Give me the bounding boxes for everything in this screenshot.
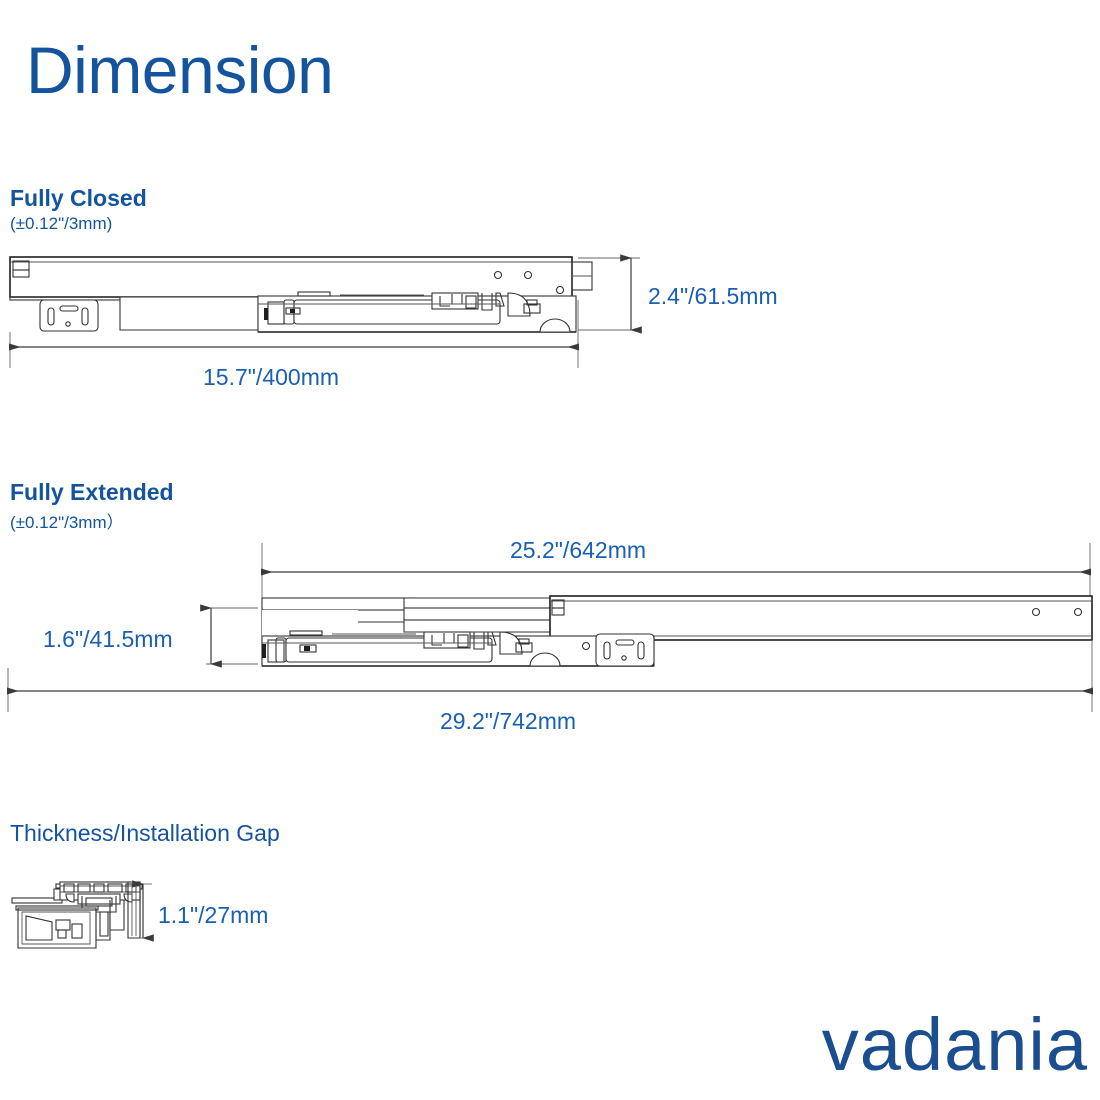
drawer-slide-closed-drawing	[10, 257, 640, 368]
section-heading-fully-extended: Fully Extended	[10, 479, 174, 506]
dimension-label-extended-travel: 25.2"/642mm	[510, 537, 646, 564]
dimension-spec-sheet: Dimension Fully Closed (±0.12"/3mm) 2.4"…	[0, 0, 1100, 1100]
dimension-closed-length	[10, 300, 578, 368]
dimension-label-closed-length: 15.7"/400mm	[203, 364, 339, 391]
section-tolerance-fully-closed: (±0.12"/3mm)	[10, 214, 112, 234]
section-tolerance-fully-extended: (±0.12"/3mm）	[10, 508, 124, 533]
dimension-label-closed-height: 2.4"/61.5mm	[648, 283, 778, 310]
drawer-slide-cross-section-drawing	[12, 882, 152, 948]
dimension-extended-height	[206, 608, 258, 664]
section-heading-thickness: Thickness/Installation Gap	[10, 820, 280, 847]
section-heading-fully-closed: Fully Closed	[10, 185, 147, 212]
brand-logo-vadania: vadania	[822, 1008, 1088, 1082]
dimension-label-extended-height: 1.6"/41.5mm	[43, 626, 173, 653]
dimension-closed-height	[578, 258, 640, 330]
dimension-label-thickness: 1.1"/27mm	[158, 902, 268, 929]
dimension-label-extended-total-length: 29.2"/742mm	[440, 708, 576, 735]
dimension-extended-travel	[262, 543, 1090, 600]
page-title: Dimension	[26, 34, 333, 106]
